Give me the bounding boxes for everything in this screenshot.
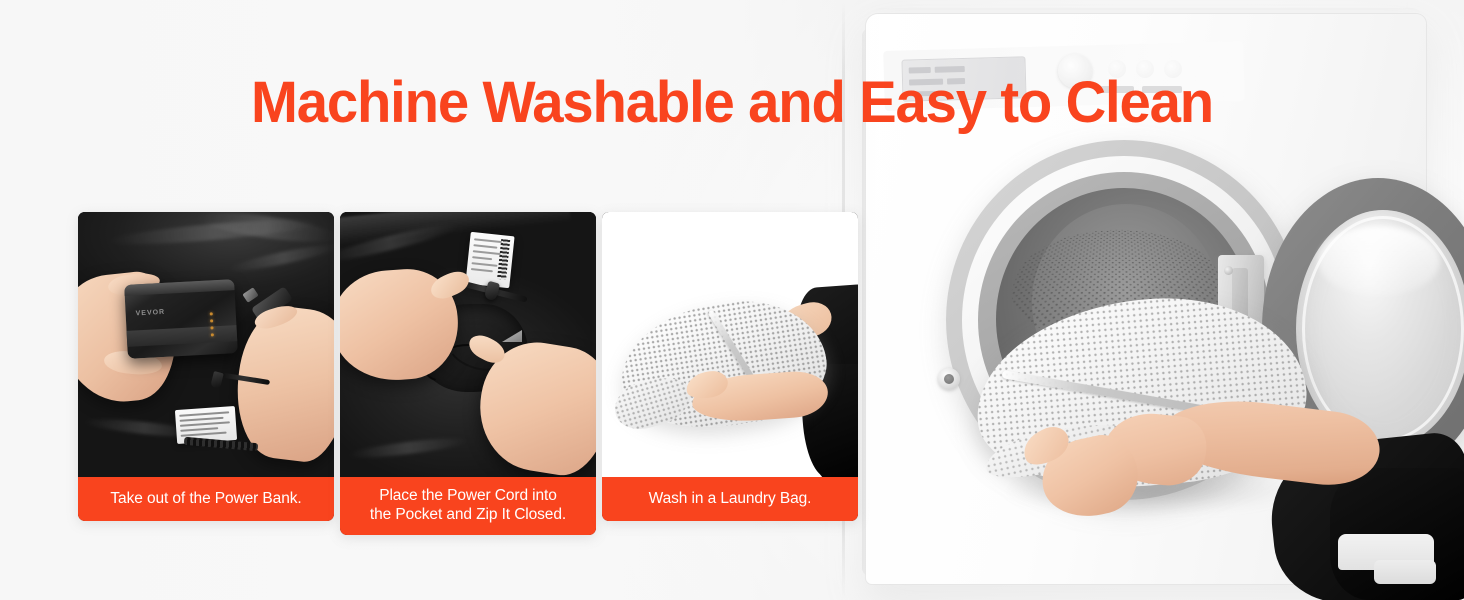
- power-bank-logo: VEVOR: [135, 309, 165, 318]
- step-cards: VEVOR Take out of the Power Bank.: [78, 212, 858, 535]
- step-photo-zip-pocket: [340, 212, 596, 477]
- step-card-3[interactable]: Wash in a Laundry Bag.: [602, 212, 858, 521]
- step-caption-3: Wash in a Laundry Bag.: [602, 477, 858, 521]
- power-bank-band: [127, 325, 238, 347]
- step-photo-power-bank: VEVOR: [78, 212, 334, 477]
- step-photo-laundry-bag: [602, 212, 858, 477]
- step-caption-1: Take out of the Power Bank.: [78, 477, 334, 521]
- washer-base-foot-secondary: [1374, 560, 1436, 584]
- washer-door-glass-highlight: [1318, 226, 1440, 296]
- step-card-2[interactable]: Place the Power Cord into the Pocket and…: [340, 212, 596, 535]
- jacket-care-label: [465, 232, 514, 288]
- power-bank: VEVOR: [124, 279, 238, 359]
- care-label-barcode: [497, 239, 510, 280]
- page-title: Machine Washable and Easy to Clean: [22, 74, 1442, 132]
- step-card-1[interactable]: VEVOR Take out of the Power Bank.: [78, 212, 334, 521]
- step-caption-2-line1: Place the Power Cord into: [379, 487, 557, 504]
- step-caption-2: Place the Power Cord into the Pocket and…: [340, 477, 596, 535]
- hinge-bolt-top: [1224, 266, 1233, 275]
- step-caption-2-line2: the Pocket and Zip It Closed.: [370, 506, 566, 523]
- washer-door-latch-pin: [944, 374, 954, 384]
